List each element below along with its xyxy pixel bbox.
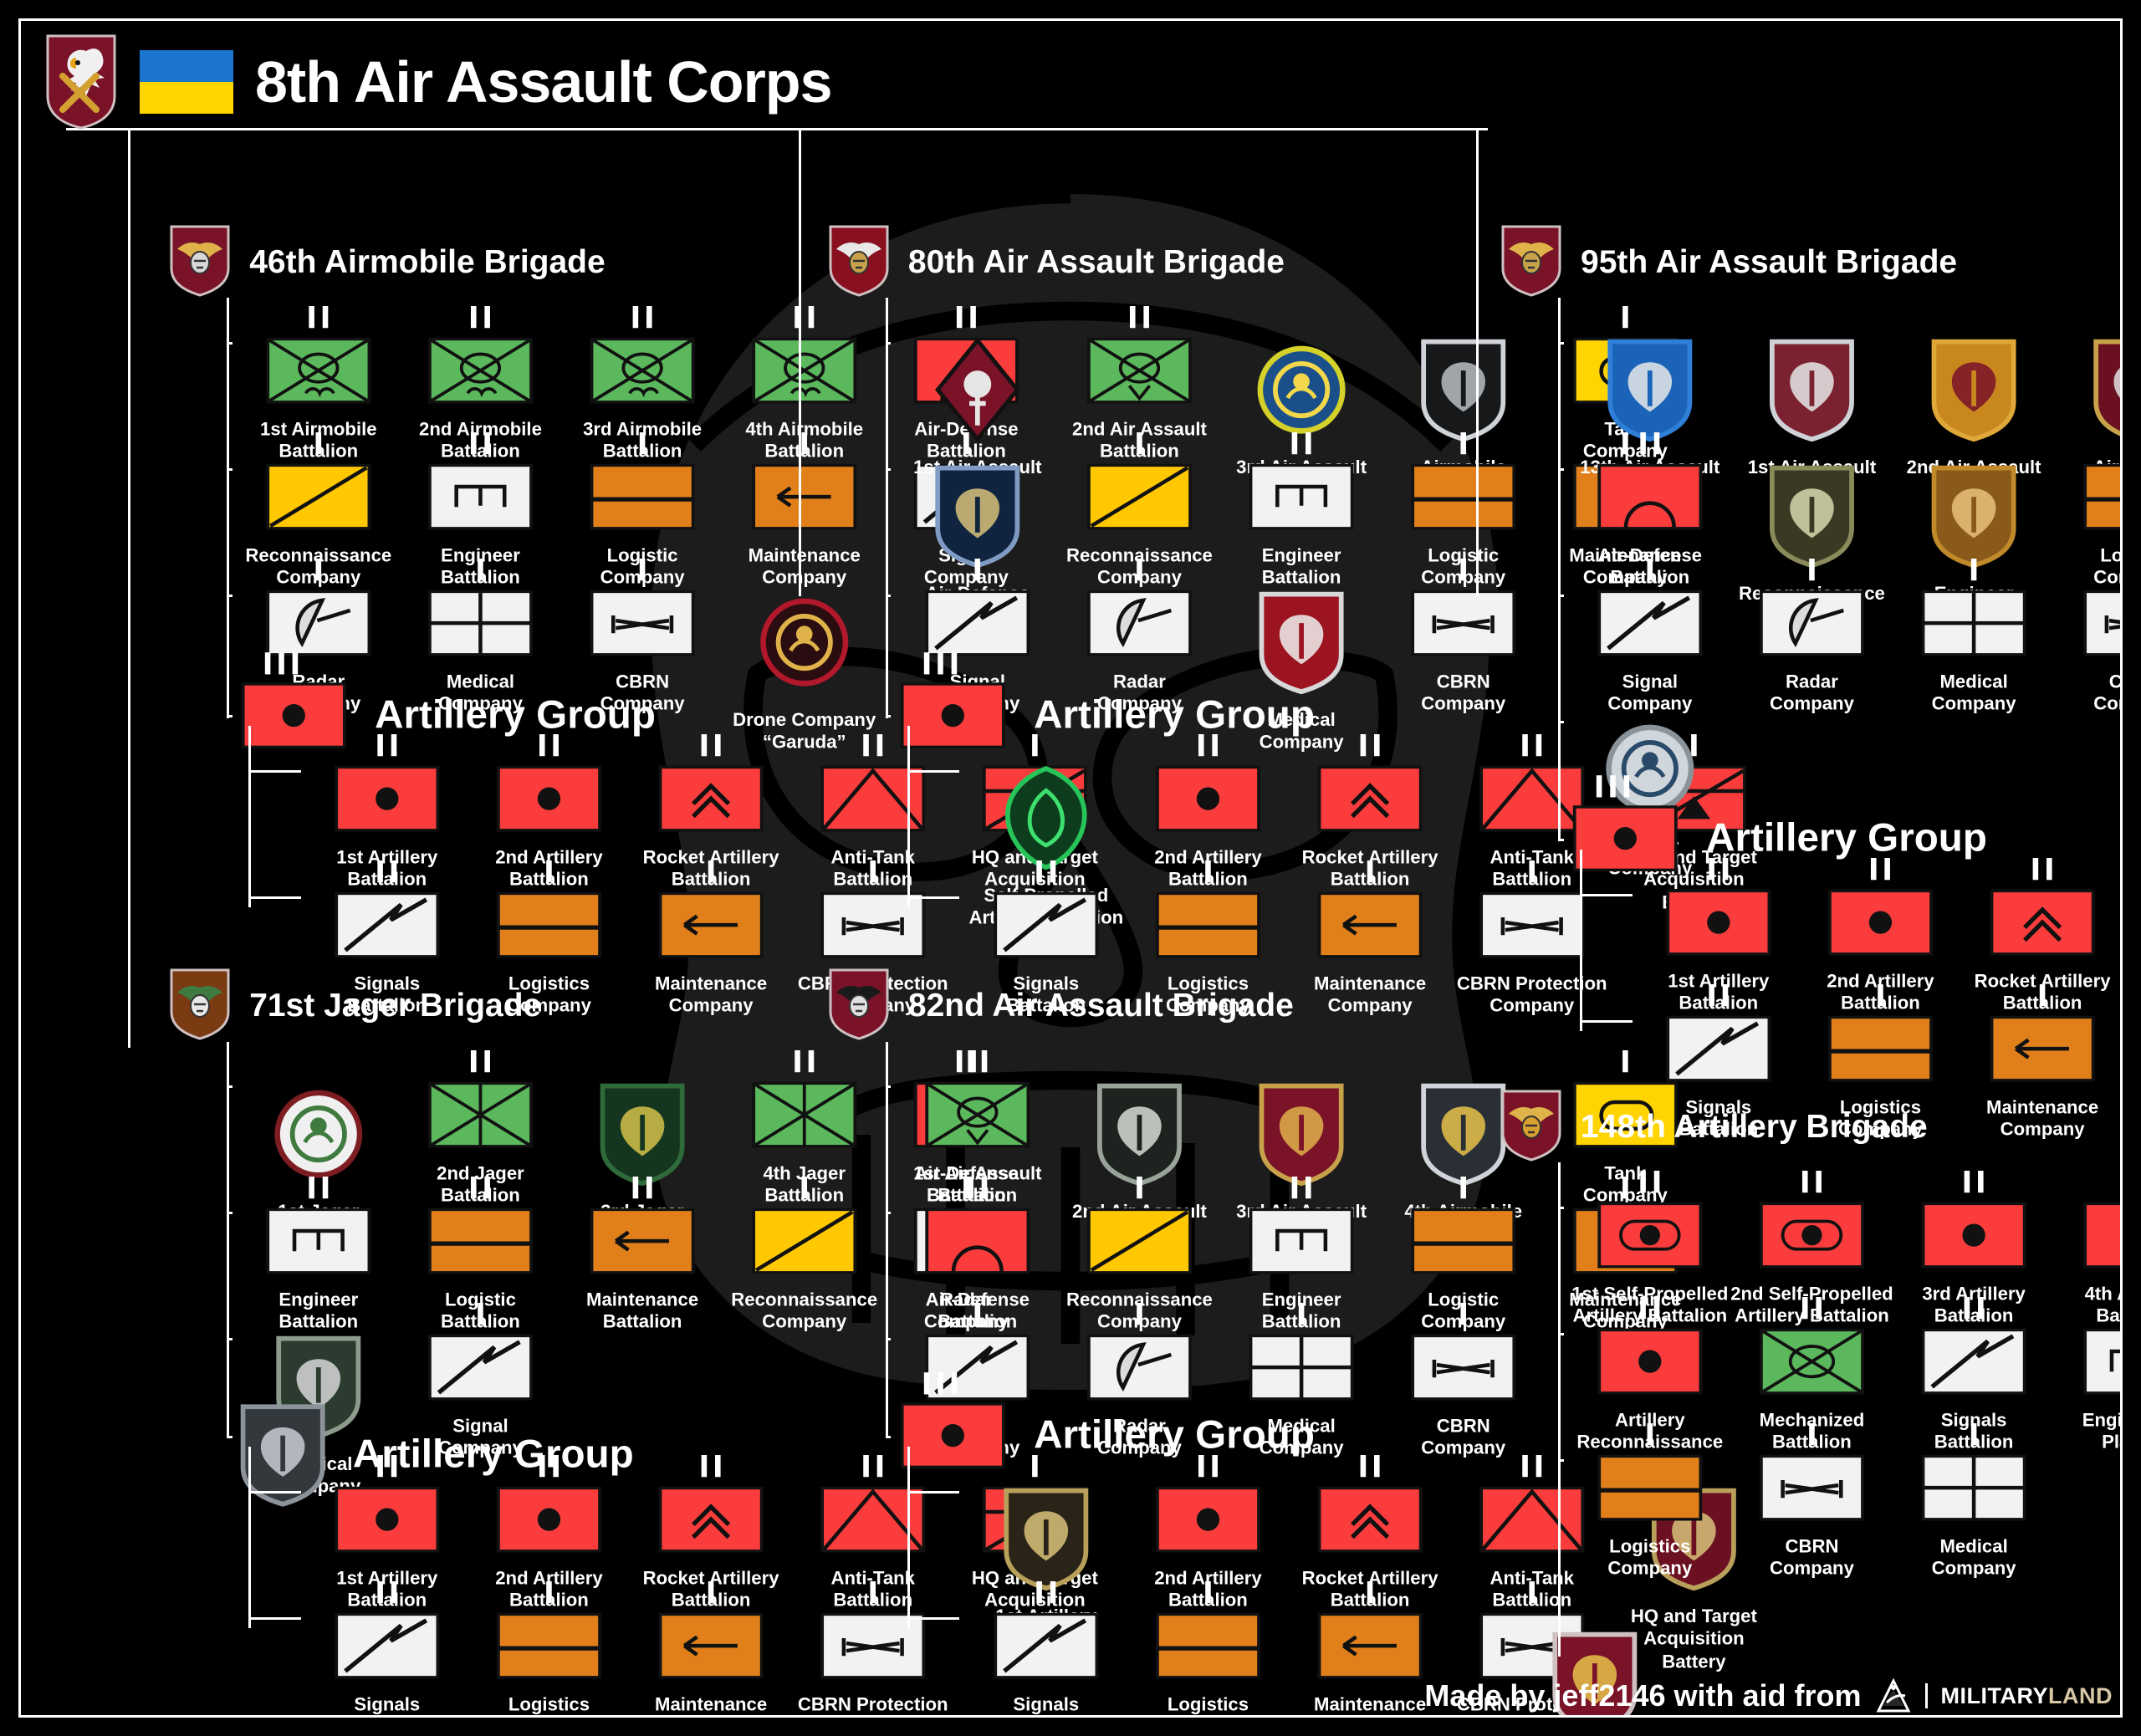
tree-connector (907, 1491, 959, 1493)
echelon-marker (1648, 1423, 1653, 1445)
unit-node[interactable]: LogisticsCompany (1569, 1423, 1731, 1581)
brigade-71st-jager-brigade[interactable]: 71st Jager Brigade (169, 968, 541, 1044)
tree-connector (248, 1447, 251, 1628)
unit-label: MaintenanceCompany (1952, 1097, 2123, 1142)
echelon-marker (1460, 559, 1466, 580)
echelon-marker (1802, 1171, 1822, 1192)
nato-symbol-icon (1918, 1200, 2031, 1271)
echelon-marker (1648, 559, 1653, 580)
nato-symbol-icon (2080, 1200, 2123, 1271)
unit-patch-icon (1766, 335, 1857, 445)
unit-patch-icon (933, 462, 1023, 571)
unit-node[interactable]: MaintenanceCompany (631, 1581, 793, 1718)
tree-connector (248, 896, 300, 899)
nato-symbol-icon (1314, 890, 1427, 961)
nato-symbol-icon (1083, 1205, 1196, 1276)
echelon-marker (708, 860, 714, 882)
nato-symbol-icon (1245, 1331, 1358, 1402)
nato-symbol-icon (493, 1610, 606, 1681)
nato-symbol-icon (922, 588, 1035, 659)
tree-connector (227, 605, 229, 718)
nato-symbol-icon (1245, 1205, 1358, 1276)
nato-symbol-icon (749, 1205, 861, 1276)
nato-symbol-icon (1594, 588, 1707, 659)
nato-symbol-icon (1245, 462, 1358, 533)
nato-symbol-icon (2080, 1326, 2123, 1397)
poster-frame: 8th Air Assault Corps 46th Airmobile Bri… (18, 18, 2123, 1718)
nato-symbol-icon (1314, 1483, 1427, 1555)
echelon-marker (547, 1581, 553, 1603)
nato-symbol-icon (586, 1205, 699, 1276)
nato-symbol-icon (1663, 886, 1776, 957)
unit-label: EngineeringPlatoon (2045, 1410, 2123, 1455)
echelon-marker (1130, 306, 1149, 328)
echelon-marker (1809, 559, 1815, 580)
echelon-marker (968, 1050, 987, 1072)
nato-symbol-icon (424, 335, 537, 406)
unit-node[interactable]: LogisticsCompany (468, 1581, 631, 1718)
nato-symbol-icon (1594, 462, 1707, 533)
unit-label: CBRNCompany (1721, 1536, 1903, 1581)
tree-connector (248, 770, 300, 773)
nato-symbol-icon (922, 1079, 1035, 1150)
echelon-marker (864, 734, 883, 756)
nato-symbol-icon (1755, 1453, 1868, 1524)
echelon-marker (478, 559, 483, 580)
tree-connector (886, 1350, 888, 1439)
echelon-marker (2033, 858, 2052, 880)
nato-symbol-icon (331, 763, 444, 835)
echelon-marker (1971, 559, 1977, 580)
unit-label: CBRN ProtectionCompany (783, 1693, 964, 1718)
militaryland-logo-icon (1875, 1677, 1912, 1714)
unit-label: MedicalCompany (1883, 671, 2065, 717)
nato-symbol-icon (1407, 462, 1520, 533)
echelon-marker (975, 559, 981, 580)
echelon-marker (1971, 1423, 1977, 1445)
unit-patch-icon (1256, 335, 1346, 445)
unit-node[interactable]: SignalsBattalion (306, 1581, 468, 1718)
tree-connector (248, 726, 251, 907)
echelon-marker (924, 1372, 957, 1394)
tree-connector (907, 1617, 959, 1620)
nato-symbol-icon (424, 588, 537, 659)
unit-label: LogisticsCompany (1560, 1536, 1741, 1581)
unit-patch-icon (1094, 1079, 1184, 1188)
echelon-marker (1036, 1581, 1055, 1603)
brigade-crest-icon (828, 968, 890, 1044)
nato-symbol-icon (1083, 1331, 1196, 1402)
nato-symbol-icon (1918, 588, 2031, 659)
tree-connector (1558, 298, 1561, 732)
ukraine-flag-icon (140, 50, 233, 114)
nato-symbol-icon (331, 1610, 444, 1681)
echelon-marker (1809, 1423, 1815, 1445)
echelon-marker (924, 652, 957, 674)
nato-symbol-icon (1986, 886, 2099, 957)
unit-patch-icon (759, 588, 850, 697)
tree-connector (1580, 1020, 1632, 1023)
divider-root (128, 128, 130, 1048)
unit-label: MaintenanceBattalion (552, 1289, 733, 1334)
unit-patch-icon (2091, 335, 2123, 445)
nato-symbol-icon (1152, 1483, 1265, 1555)
unit-patch-icon (238, 1400, 328, 1509)
unit-patch-icon (1766, 462, 1857, 571)
echelon-marker (1036, 860, 1055, 882)
footer-credit: Made by jeff2146 with aid from MILITARYL… (1424, 1677, 2113, 1714)
echelon-marker (1802, 1297, 1822, 1319)
echelon-marker (2040, 984, 2046, 1006)
nato-symbol-icon (1918, 1326, 2031, 1397)
unit-node[interactable]: CBRN ProtectionCompany (1451, 860, 1613, 1019)
unit-node[interactable]: Drone Company“Garuda” (723, 559, 886, 755)
brigade-crest-icon (1500, 1089, 1562, 1166)
echelon-marker (640, 432, 646, 454)
nato-symbol-icon (2080, 588, 2123, 659)
nato-symbol-icon (1755, 588, 1868, 659)
echelon-marker (1367, 860, 1373, 882)
echelon-marker (975, 1303, 981, 1325)
echelon-marker (265, 652, 298, 674)
echelon-marker (1965, 1171, 1984, 1192)
unit-node[interactable]: CBRNCompany (1382, 559, 1545, 755)
echelon-marker (1622, 1050, 1628, 1072)
nato-symbol-icon (990, 1610, 1103, 1681)
nato-symbol-icon (655, 1483, 768, 1555)
page-title: 8th Air Assault Corps (255, 49, 832, 115)
unit-label: MaintenanceCompany (1280, 973, 1461, 1019)
nato-symbol-icon (1824, 886, 1937, 957)
nato-symbol-icon (1314, 763, 1427, 835)
unit-node[interactable]: RadarCompany (1731, 559, 1893, 755)
unit-label: LogisticsCompany (458, 1693, 640, 1718)
echelon-marker (316, 559, 322, 580)
unit-row: LogisticsCompany CBRNCompany MedicalComp… (1569, 1423, 2055, 1581)
nato-symbol-icon (263, 1205, 376, 1276)
echelon-marker (1205, 1581, 1211, 1603)
echelon-marker (702, 1455, 721, 1477)
brigade-crest-icon (828, 224, 890, 301)
brigade-80th-air-assault-brigade[interactable]: 80th Air Assault Brigade (828, 224, 1285, 301)
echelon-marker (1522, 734, 1541, 756)
artillery-group-header[interactable]: Artillery Group (238, 680, 656, 751)
unit-label: MedicalCompany (1883, 1536, 2065, 1581)
nato-symbol-icon (655, 763, 768, 835)
echelon-marker (1205, 860, 1211, 882)
echelon-marker (640, 559, 646, 580)
tree-connector (907, 896, 959, 899)
echelon-marker (1460, 1177, 1466, 1198)
tree-connector (248, 1617, 300, 1620)
nato-symbol-icon (263, 462, 376, 533)
unit-patch-icon (1929, 462, 2019, 571)
nato-symbol-icon (1475, 890, 1588, 961)
corps-eagle-crest-icon (44, 33, 118, 131)
echelon-marker (871, 860, 876, 882)
echelon-marker (968, 1177, 987, 1198)
nato-symbol-icon (655, 1610, 768, 1681)
tree-connector (1580, 850, 1582, 1031)
echelon-marker (1299, 1303, 1305, 1325)
nato-symbol-icon (817, 1483, 930, 1555)
echelon-marker (1460, 1303, 1466, 1325)
unit-label: CBRNCompany (1372, 671, 1554, 717)
unit-patch-icon (1418, 1079, 1509, 1188)
nato-symbol-icon (424, 1205, 537, 1276)
unit-node[interactable]: MaintenanceBattalion (562, 1177, 724, 1335)
nato-symbol-icon (424, 1331, 537, 1402)
unit-label: CBRNCompany (2045, 671, 2123, 717)
nato-symbol-icon (749, 335, 861, 406)
logo-primary-text: MILITARY (1941, 1683, 2048, 1708)
brigade-title: 95th Air Assault Brigade (1581, 244, 1957, 281)
nato-symbol-icon (1594, 1326, 1707, 1397)
militaryland-wordmark: MILITARYLAND (1941, 1683, 2113, 1709)
unit-patch-icon (1001, 1483, 1091, 1593)
nato-symbol-icon (586, 462, 699, 533)
echelon-marker (633, 306, 652, 328)
echelon-marker (1640, 1171, 1659, 1192)
nato-symbol-icon (1083, 462, 1196, 533)
credit-text: Made by jeff2146 with aid from (1424, 1678, 1861, 1713)
tree-connector (907, 726, 910, 907)
nato-symbol-icon (922, 1205, 1035, 1276)
echelon-marker (1361, 734, 1380, 756)
nato-symbol-icon (1152, 1610, 1265, 1681)
unit-label: CBRNCompany (1372, 1415, 1554, 1460)
nato-symbol-icon (1152, 890, 1265, 961)
nato-symbol-icon (1152, 763, 1265, 835)
tree-connector (227, 1042, 229, 1350)
echelon-marker (1878, 984, 1883, 1006)
echelon-marker (316, 432, 322, 454)
echelon-marker (471, 432, 490, 454)
unit-patch-icon (597, 1079, 687, 1188)
unit-patch-icon (1001, 763, 1091, 873)
nato-symbol-icon (263, 588, 376, 659)
echelon-marker (1137, 559, 1142, 580)
nato-symbol-icon (1663, 1013, 1776, 1084)
brigade-crest-icon (169, 224, 231, 301)
nato-symbol-icon (897, 1400, 1009, 1471)
unit-patch-icon (273, 1079, 364, 1188)
unit-node[interactable]: SignalsBattalion (965, 1581, 1127, 1718)
nato-symbol-icon (897, 680, 1009, 751)
nato-symbol-icon (1569, 803, 1682, 874)
nato-symbol-icon (424, 462, 537, 533)
echelon-marker (633, 1177, 652, 1198)
unit-node[interactable]: CBRNCompany (1731, 1423, 1893, 1581)
echelon-marker (1137, 1177, 1142, 1198)
unit-patch-icon (1418, 335, 1509, 445)
tree-connector (907, 770, 959, 773)
nato-symbol-icon (1407, 1205, 1520, 1276)
unit-node[interactable]: ReconnaissanceCompany (723, 1177, 886, 1335)
brigade-crest-icon (1500, 224, 1562, 301)
unit-label: ReconnaissanceCompany (714, 1289, 896, 1334)
brigade-title: 71st Jager Brigade (249, 988, 541, 1024)
echelon-marker (795, 306, 815, 328)
unit-node[interactable]: EngineeringPlatoon (2055, 1297, 2123, 1478)
nato-symbol-icon (817, 763, 930, 835)
brigade-46th-airmobile-brigade[interactable]: 46th Airmobile Brigade (169, 224, 605, 301)
nato-symbol-icon (1083, 335, 1196, 406)
echelon-marker (802, 1177, 808, 1198)
nato-symbol-icon (1407, 588, 1520, 659)
echelon-marker (309, 306, 329, 328)
unit-row: SignalsBattalion LogisticsCompany Mainte… (306, 1581, 954, 1718)
tree-connector (1580, 894, 1632, 896)
unit-label: MaintenanceCompany (621, 973, 802, 1019)
nato-symbol-icon (424, 1079, 537, 1150)
artillery-group-title: Artillery Group (1706, 816, 1987, 861)
echelon-marker (864, 1455, 883, 1477)
echelon-marker (547, 860, 553, 882)
echelon-marker (471, 1050, 490, 1072)
nato-symbol-icon (1986, 1013, 2099, 1084)
echelon-marker (471, 1177, 490, 1198)
echelon-marker (871, 1581, 876, 1603)
unit-node[interactable]: MaintenanceCompany (1961, 984, 2123, 1142)
nato-symbol-icon (749, 462, 861, 533)
brigade-title: 80th Air Assault Brigade (908, 244, 1285, 281)
tree-connector (1558, 732, 1561, 841)
unit-node[interactable]: CBRNCompany (2055, 559, 2123, 755)
echelon-marker (378, 1581, 397, 1603)
nato-symbol-icon (817, 1610, 930, 1681)
echelon-marker (1292, 432, 1311, 454)
echelon-marker (1709, 984, 1728, 1006)
brigade-title: 46th Airmobile Brigade (249, 244, 605, 281)
echelon-marker (1522, 1455, 1541, 1477)
tree-connector (227, 1350, 229, 1439)
echelon-marker (478, 1303, 483, 1325)
nato-symbol-icon (1594, 1200, 1707, 1271)
echelon-marker (1137, 432, 1142, 454)
artillery-group-header[interactable]: Artillery Group (897, 680, 1315, 751)
echelon-marker (1361, 1455, 1380, 1477)
nato-symbol-icon (1824, 1013, 1937, 1084)
unit-node[interactable]: CBRNCompany (1382, 1303, 1545, 1461)
brigade-title: 148th Artillery Brigade (1581, 1109, 1928, 1146)
nato-symbol-icon (1083, 588, 1196, 659)
unit-patch-icon (1256, 1079, 1346, 1188)
divider-col1 (799, 128, 801, 596)
nato-symbol-icon (586, 588, 699, 659)
echelon-marker (1597, 776, 1629, 798)
unit-node[interactable]: MaintenanceCompany (1289, 860, 1451, 1019)
unit-label: CBRN ProtectionCompany (1441, 973, 1622, 1019)
unit-patch-icon (1605, 335, 1695, 445)
echelon-marker (378, 860, 397, 882)
unit-label: RadarCompany (1721, 671, 1903, 717)
echelon-marker (471, 306, 490, 328)
tree-connector (1558, 1162, 1561, 1657)
tree-connector (907, 1447, 910, 1628)
nato-symbol-icon (655, 890, 768, 961)
unit-label: MaintenanceCompany (621, 1693, 802, 1718)
nato-symbol-icon (1314, 1610, 1427, 1681)
tree-connector (886, 605, 888, 718)
unit-node[interactable]: MaintenanceCompany (631, 860, 793, 1019)
artillery-group-title: Artillery Group (1034, 1413, 1315, 1458)
unit-label: SignalsBattalion (297, 1693, 478, 1718)
tree-connector (248, 1491, 300, 1493)
nato-symbol-icon (1594, 1453, 1707, 1524)
nato-symbol-icon (1755, 1326, 1868, 1397)
echelon-marker (1137, 1303, 1142, 1325)
nato-symbol-icon (238, 680, 350, 751)
nato-symbol-icon (1755, 1200, 1868, 1271)
logo-divider (1925, 1683, 1928, 1708)
divider-col2 (1476, 128, 1479, 596)
logo-secondary-text: LAND (2048, 1683, 2113, 1708)
brigade-crest-icon (169, 968, 231, 1044)
unit-node[interactable]: MedicalCompany (1893, 559, 2055, 755)
unit-label: SignalsBattalion (956, 1693, 1137, 1718)
artillery-group-title: Artillery Group (353, 1432, 634, 1478)
echelon-marker (1640, 432, 1659, 454)
nato-symbol-icon (1407, 1331, 1520, 1402)
echelon-marker (1460, 432, 1466, 454)
tree-connector (886, 1042, 888, 1350)
tree-connector (886, 298, 888, 605)
artillery-group-header[interactable]: Artillery Group (897, 1400, 1315, 1471)
nato-symbol-icon (2080, 462, 2123, 533)
unit-node[interactable]: MedicalCompany (1893, 1423, 2055, 1581)
nato-symbol-icon (990, 890, 1103, 961)
unit-patch-icon (933, 335, 1023, 445)
echelon-marker (702, 734, 721, 756)
brigade-title: 82nd Air Assault Brigade (908, 988, 1294, 1024)
nato-symbol-icon (331, 890, 444, 961)
echelon-marker (1367, 1581, 1373, 1603)
nato-symbol-icon (493, 890, 606, 961)
nato-symbol-icon (749, 1079, 861, 1150)
unit-patch-icon (1929, 335, 2019, 445)
echelon-marker (1529, 860, 1535, 882)
unit-label: LogisticsCompany (1117, 1693, 1299, 1718)
nato-symbol-icon (493, 763, 606, 835)
echelon-marker (1292, 1177, 1311, 1198)
echelon-marker (1965, 1297, 1984, 1319)
nato-symbol-icon (817, 890, 930, 961)
echelon-marker (309, 1177, 329, 1198)
brigade-95th-air-assault-brigade[interactable]: 95th Air Assault Brigade (1500, 224, 1957, 301)
nato-symbol-icon (586, 335, 699, 406)
tree-connector (227, 298, 229, 605)
artillery-group-title: Artillery Group (375, 692, 656, 738)
unit-node[interactable]: LogisticsCompany (1127, 1581, 1290, 1718)
poster-header: 8th Air Assault Corps (44, 33, 832, 131)
nato-symbol-icon (1918, 1453, 2031, 1524)
brigade-82nd-air-assault-brigade[interactable]: 82nd Air Assault Brigade (828, 968, 1294, 1044)
artillery-group-header[interactable]: Artillery Group (238, 1400, 634, 1509)
echelon-marker (708, 1581, 714, 1603)
artillery-group-title: Artillery Group (1034, 692, 1315, 738)
org-tree: 46th Airmobile Brigade 1st AirmobileBatt… (21, 21, 2120, 1715)
brigade-148th-artillery-brigade[interactable]: 148th Artillery Brigade (1500, 1089, 1928, 1166)
echelon-marker (795, 1050, 815, 1072)
unit-label: CBRN ProtectionCompany (2114, 1097, 2123, 1142)
echelon-marker (1640, 1297, 1659, 1319)
unit-node[interactable]: CBRN ProtectionCompany (792, 1581, 954, 1718)
echelon-marker (802, 432, 808, 454)
nato-symbol-icon (263, 335, 376, 406)
artillery-group-header[interactable]: Artillery Group (1569, 803, 1987, 874)
